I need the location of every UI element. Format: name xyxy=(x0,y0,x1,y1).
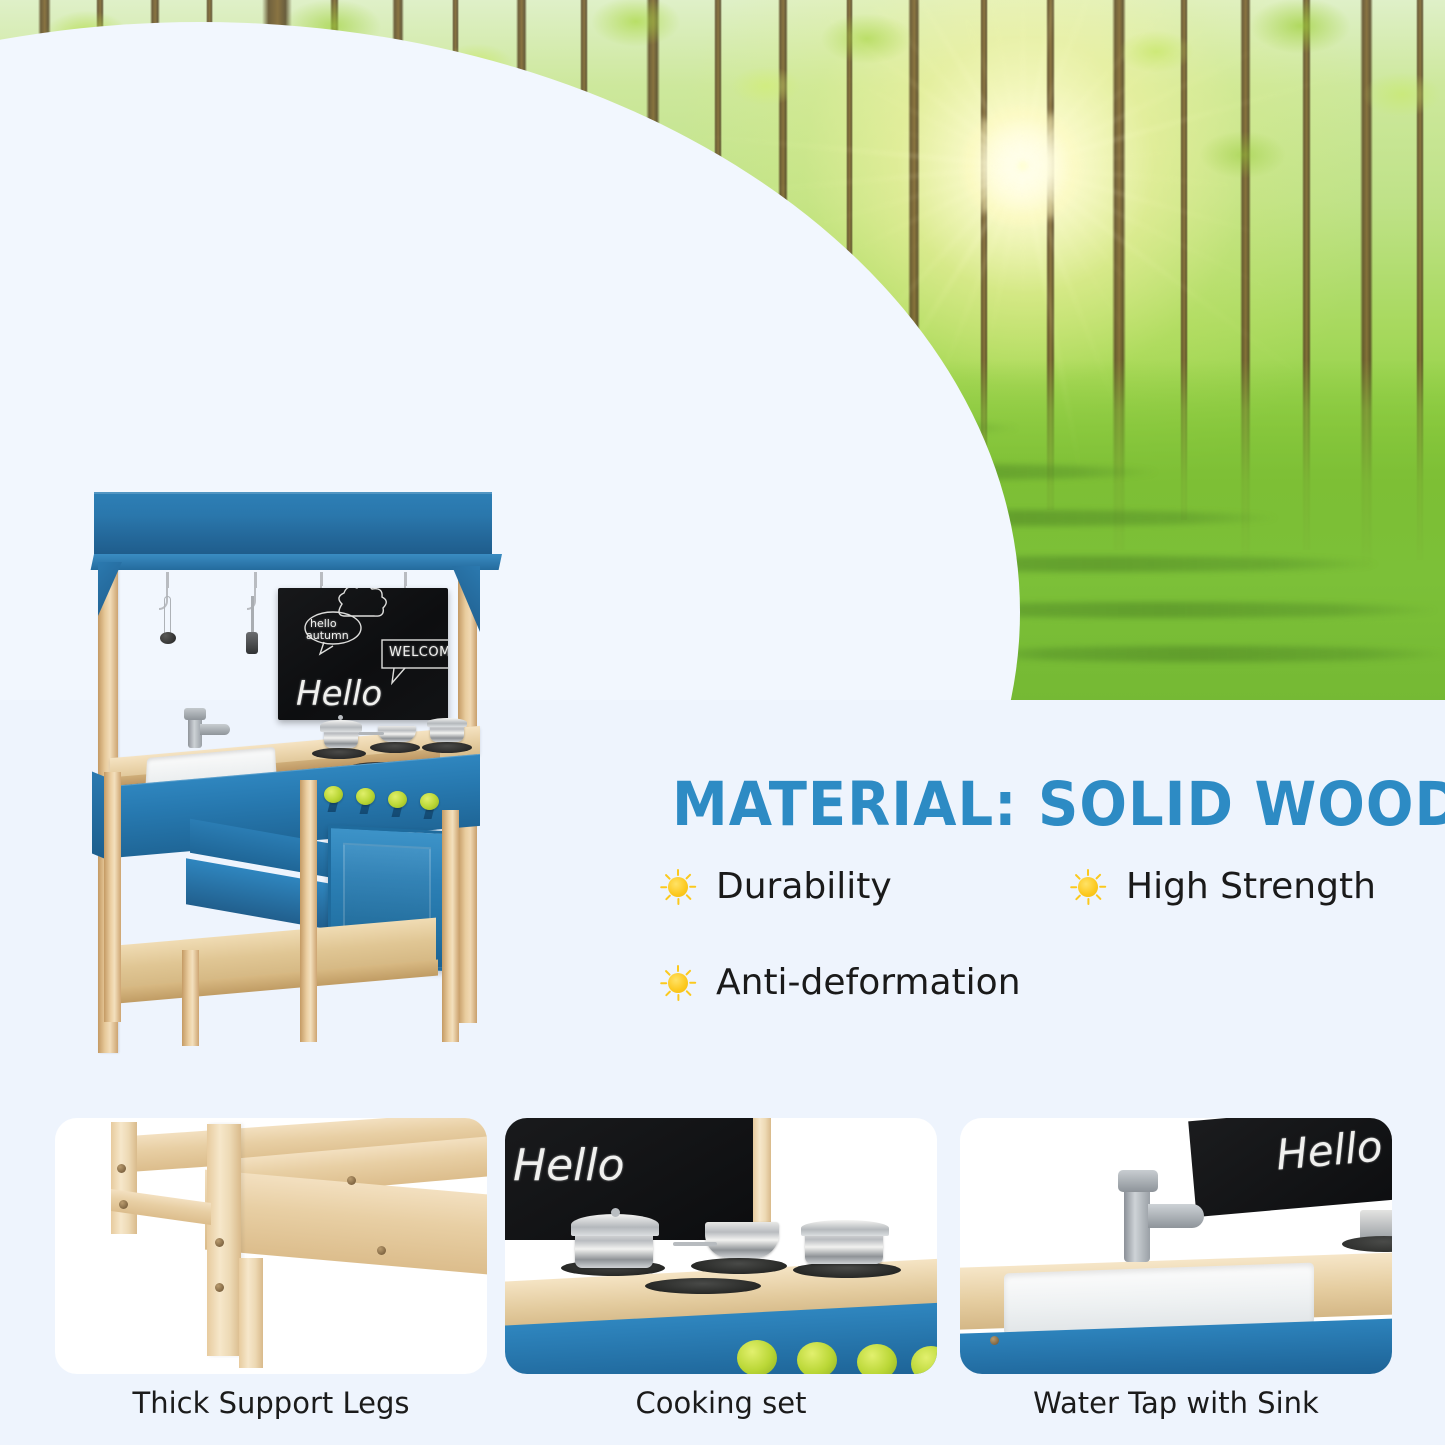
faucet-spout xyxy=(200,724,230,735)
chalkboard: hello autumn WELCOME Hello xyxy=(278,588,448,720)
thumb-water-tap[interactable]: Hello xyxy=(960,1118,1392,1374)
thumb-caption-2: Cooking set xyxy=(505,1386,937,1420)
thumb-faucet-spout xyxy=(1148,1204,1204,1228)
thumb-burner xyxy=(1342,1236,1392,1252)
feature-item-high-strength: High Strength xyxy=(1070,866,1376,907)
sun-icon xyxy=(660,869,696,905)
product-feature-page: hello autumn WELCOME Hello xyxy=(0,0,1445,1445)
page-title: Material: Solid Wood xyxy=(672,770,1412,840)
thumb-caption-1: Thick Support Legs xyxy=(55,1386,487,1420)
detail-thumbnail-row: Hello Hello xyxy=(0,1118,1445,1378)
feature-label: High Strength xyxy=(1126,866,1376,907)
feature-label: Anti-deformation xyxy=(716,962,1021,1003)
leg-rear-left xyxy=(182,950,199,1046)
sun-icon xyxy=(660,965,696,1001)
feature-item-durability: Durability xyxy=(660,866,892,907)
leg-front-right xyxy=(442,810,459,1042)
feature-label: Durability xyxy=(716,866,892,907)
thumb-chalk-hello: Hello xyxy=(1274,1121,1384,1179)
sun-icon xyxy=(1070,869,1106,905)
thumb-faucet-handle xyxy=(1118,1170,1158,1192)
thumb-caption-3: Water Tap with Sink xyxy=(960,1386,1392,1420)
knob-3 xyxy=(388,791,407,808)
thumb-chalk-hello: Hello xyxy=(513,1140,625,1191)
thumb-knob-1 xyxy=(737,1340,777,1374)
chalk-hello: Hello xyxy=(296,674,382,714)
thumb-pan xyxy=(705,1222,779,1258)
canopy-shelf xyxy=(91,554,502,570)
feature-item-anti-deformation: Anti-deformation xyxy=(660,962,1021,1003)
thumb-knob-3 xyxy=(857,1344,897,1374)
chalk-welcome: WELCOME xyxy=(389,645,448,660)
leg-front-left xyxy=(104,772,121,1022)
faucet-handle xyxy=(184,708,206,720)
chalk-bubble-line2: autumn xyxy=(306,629,349,642)
knob-2 xyxy=(356,788,375,805)
canopy-top-board xyxy=(94,492,492,554)
knob-4 xyxy=(420,793,439,810)
knob-1 xyxy=(324,786,343,803)
thumb-cooking-set[interactable]: Hello xyxy=(505,1118,937,1374)
thumb-knob-2 xyxy=(797,1342,837,1374)
product-photo-mud-kitchen: hello autumn WELCOME Hello xyxy=(70,480,640,1060)
thumb-support-legs[interactable] xyxy=(55,1118,487,1374)
leg-front-mid xyxy=(300,780,317,1042)
